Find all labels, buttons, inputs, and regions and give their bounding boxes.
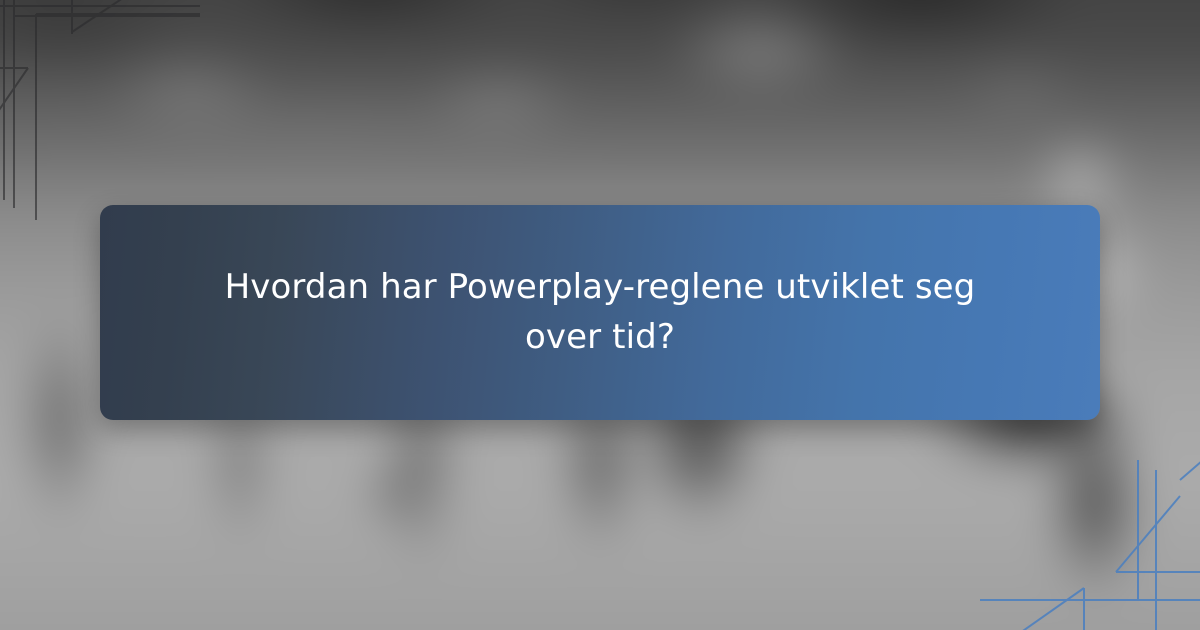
question-card: Hvordan har Powerplay-reglene utviklet s… <box>100 205 1100 420</box>
social-card-image: Hvordan har Powerplay-reglene utviklet s… <box>0 0 1200 630</box>
question-title: Hvordan har Powerplay-reglene utviklet s… <box>220 263 980 362</box>
